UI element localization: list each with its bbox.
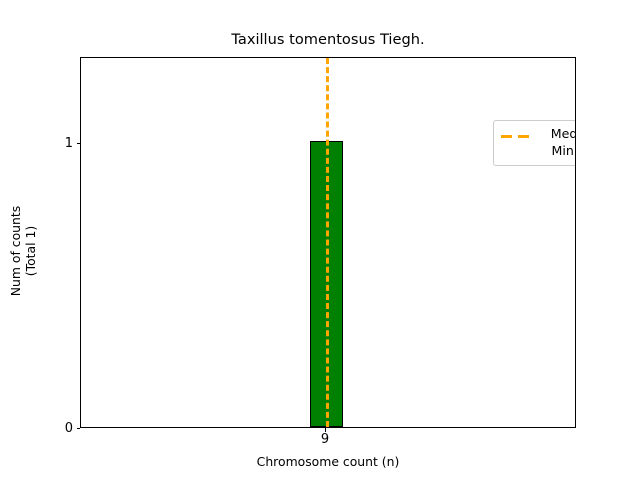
y-tick-label-1: 1 xyxy=(65,137,73,150)
x-tick-mark-9 xyxy=(325,428,326,432)
x-axis-label: Chromosome count (n) xyxy=(80,454,576,469)
legend-label-group: Median(n)=9.0 Min=9, Max=9 xyxy=(538,126,576,159)
page-title: Taxillus tomentosus Tiegh. xyxy=(80,31,576,49)
median-line xyxy=(326,58,329,427)
plot-area: Median(n)=9.0 Min=9, Max=9 xyxy=(80,57,576,428)
legend-label-minmax: Min=9, Max=9 xyxy=(538,143,576,160)
x-tick-label-9: 9 xyxy=(305,433,345,447)
legend[interactable]: Median(n)=9.0 Min=9, Max=9 xyxy=(493,120,576,166)
y-axis-label: Num of counts (Total 1) xyxy=(8,121,38,381)
y-tick-mark-0 xyxy=(77,428,81,429)
y-tick-label-0: 0 xyxy=(65,422,73,435)
legend-median-line-icon xyxy=(501,128,531,144)
y-tick-labels: 0 1 xyxy=(48,0,73,480)
chart-figure: Taxillus tomentosus Tiegh. Num of counts… xyxy=(0,0,640,480)
legend-label-median: Median(n)=9.0 xyxy=(538,126,576,143)
